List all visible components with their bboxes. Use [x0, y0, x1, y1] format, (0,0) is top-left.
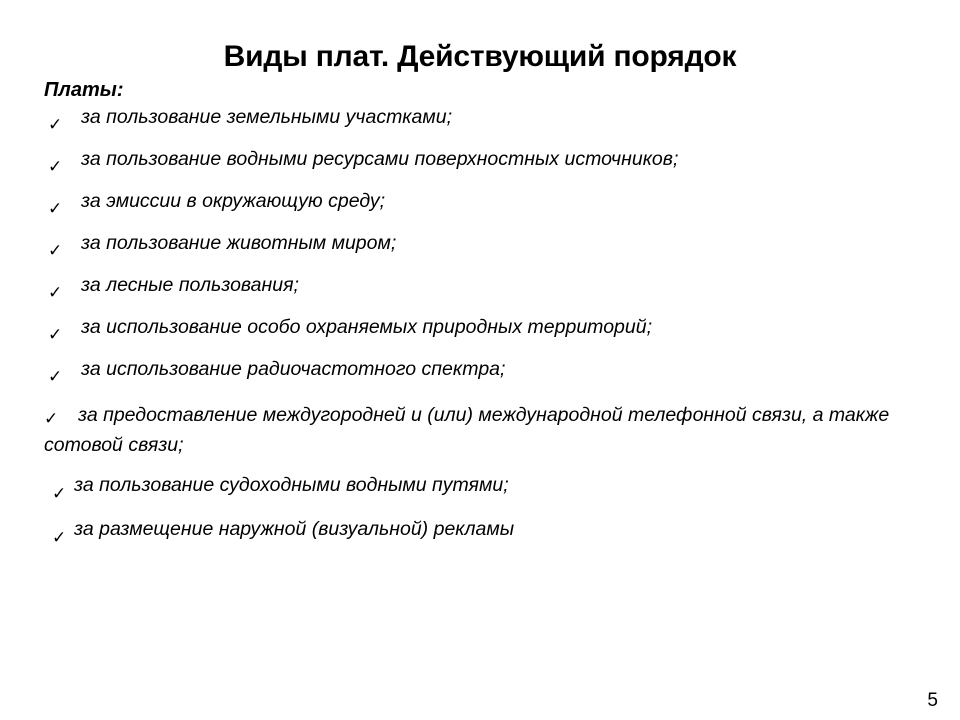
- list-item-label: за использование радиочастотного спектра…: [81, 358, 960, 381]
- list-item-label: за предоставление междугородней и (или) …: [0, 400, 944, 461]
- list-item-label: за пользование животным миром;: [81, 232, 960, 255]
- section-label-platy: Платы:: [44, 78, 960, 102]
- list-item: ✓ за лесные пользования;: [0, 274, 960, 316]
- list-item-label: за пользование земельными участками;: [81, 106, 960, 129]
- checkmark-icon: ✓: [48, 367, 62, 387]
- checkmark-icon: ✓: [48, 199, 62, 219]
- list-item-label: за использование особо охраняемых природ…: [81, 316, 960, 339]
- list-item: ✓ за использование особо охраняемых прир…: [0, 316, 960, 358]
- list-item-label: за пользование водными ресурсами поверхн…: [81, 148, 960, 171]
- list-item-label: за размещение наружной (визуальной) рекл…: [74, 518, 960, 541]
- list-item: ✓ за пользование судоходными водными пут…: [0, 474, 960, 518]
- list-item: ✓ за пользование животным миром;: [0, 232, 960, 274]
- checkmark-icon: ✓: [48, 283, 62, 303]
- list-item-label: за эмиссии в окружающую среду;: [81, 190, 960, 213]
- list-item: ✓ за предоставление междугородней и (или…: [0, 400, 960, 474]
- checkmark-icon: ✓: [52, 484, 66, 504]
- list-item: ✓ за пользование земельными участками;: [0, 106, 960, 148]
- checkmark-icon: ✓: [48, 115, 62, 135]
- slide-canvas: Виды плат. Действующий порядок Платы: ✓ …: [0, 0, 960, 720]
- checkmark-icon: ✓: [48, 241, 62, 261]
- list-item: ✓ за размещение наружной (визуальной) ре…: [0, 518, 960, 562]
- checkmark-icon: ✓: [48, 157, 62, 177]
- checkmark-icon: ✓: [52, 528, 66, 548]
- checkmark-icon: ✓: [48, 325, 62, 345]
- payment-types-list: ✓ за пользование земельными участками; ✓…: [0, 106, 960, 562]
- list-item-label: за лесные пользования;: [81, 274, 960, 297]
- list-item: ✓ за эмиссии в окружающую среду;: [0, 190, 960, 232]
- page-number: 5: [927, 691, 938, 710]
- list-item: ✓ за использование радиочастотного спект…: [0, 358, 960, 400]
- slide-body: Платы: ✓ за пользование земельными участ…: [0, 78, 960, 562]
- checkmark-icon: ✓: [44, 409, 58, 429]
- page-title: Виды плат. Действующий порядок: [0, 40, 960, 75]
- list-item: ✓ за пользование водными ресурсами повер…: [0, 148, 960, 190]
- list-item-label: за пользование судоходными водными путям…: [74, 474, 960, 497]
